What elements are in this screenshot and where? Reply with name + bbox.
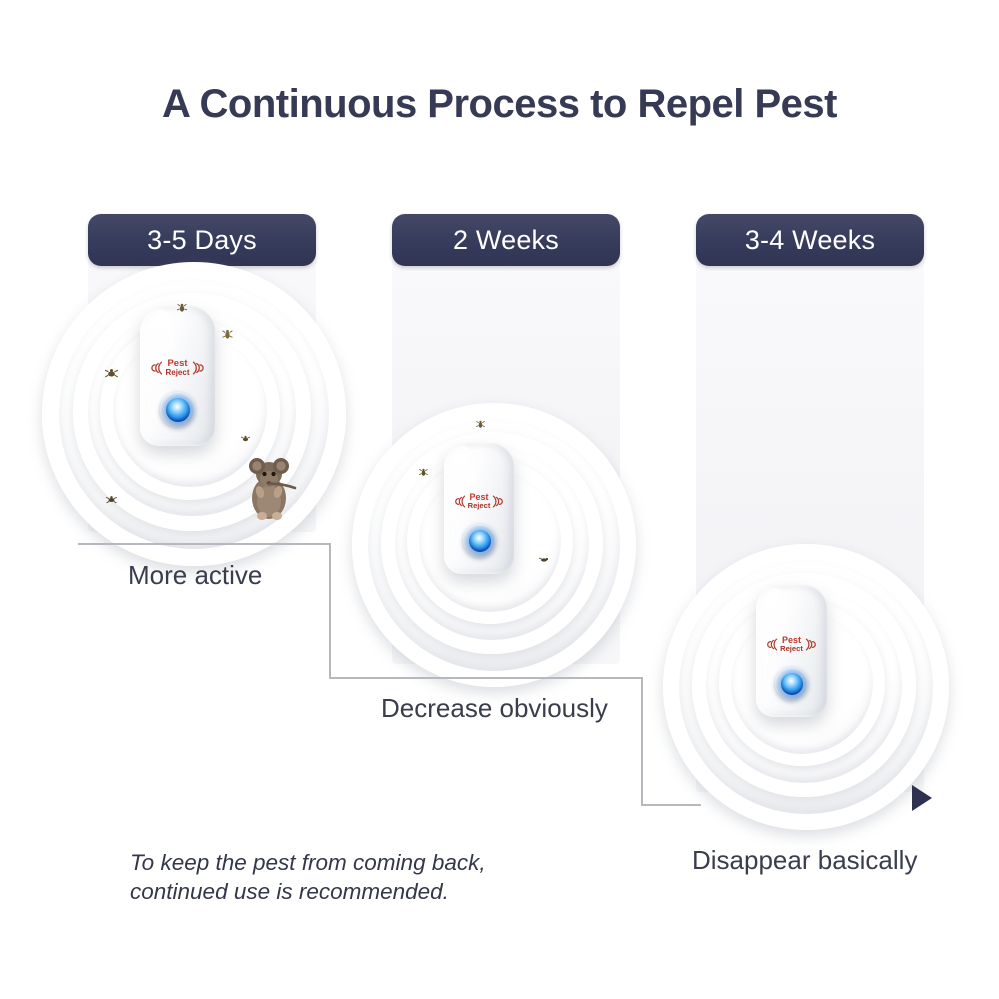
pest-reject-logo-2: Pest Reject (447, 489, 511, 514)
led-indicator-2[interactable] (463, 524, 496, 557)
sonic-wave-icon (453, 492, 467, 511)
rodent-icon (238, 452, 300, 522)
stage-badge-3[interactable]: 3-4 Weeks (696, 214, 924, 266)
insect-icon (221, 328, 234, 341)
logo-word-bottom: Reject (780, 645, 803, 653)
stage-badge-2[interactable]: 2 Weeks (392, 214, 620, 266)
connector-line-2-horizontal (329, 677, 642, 679)
sonic-wave-icon (191, 358, 206, 378)
footnote-line-2: continued use is recommended. (130, 877, 550, 906)
led-indicator-3[interactable] (775, 667, 808, 700)
sonic-wave-icon (491, 492, 505, 511)
pest-repeller-unit-2[interactable]: Pest Reject (444, 443, 514, 574)
led-indicator-1[interactable] (160, 392, 195, 427)
stage-badge-1[interactable]: 3-5 Days (88, 214, 316, 266)
stage-caption-3: Disappear basically (692, 845, 917, 876)
insect-icon (418, 467, 429, 478)
pest-reject-logo-3: Pest Reject (759, 632, 824, 657)
insect-icon (104, 367, 119, 380)
pest-repeller-unit-3[interactable]: Pest Reject (756, 585, 827, 717)
play-arrow-icon[interactable] (912, 785, 932, 811)
connector-line-3-horizontal (641, 804, 701, 806)
sonic-wave-icon (765, 635, 779, 654)
page-title: A Continuous Process to Repel Pest (0, 82, 999, 127)
logo-word-bottom: Reject (468, 502, 491, 510)
insect-icon (475, 419, 486, 430)
stage-caption-2: Decrease obviously (381, 693, 608, 724)
connector-line-1-vertical (329, 543, 331, 678)
connector-line-1-horizontal (78, 543, 330, 545)
sonic-wave-icon (149, 358, 164, 378)
sonic-wave-icon (804, 635, 818, 654)
infographic-canvas: A Continuous Process to Repel Pest 3-5 D… (0, 0, 999, 999)
footnote-line-1: To keep the pest from coming back, (130, 848, 550, 877)
insect-icon (538, 555, 550, 564)
footnote: To keep the pest from coming back, conti… (130, 848, 550, 907)
logo-word-bottom: Reject (165, 369, 189, 377)
stage-caption-1: More active (128, 560, 262, 591)
connector-line-2-vertical (641, 677, 643, 805)
insect-icon (105, 494, 118, 505)
insect-icon (240, 434, 251, 444)
pest-repeller-unit-1[interactable]: Pest Reject (140, 306, 215, 446)
pest-reject-logo-1: Pest Reject (144, 355, 211, 381)
insect-icon (176, 302, 188, 314)
